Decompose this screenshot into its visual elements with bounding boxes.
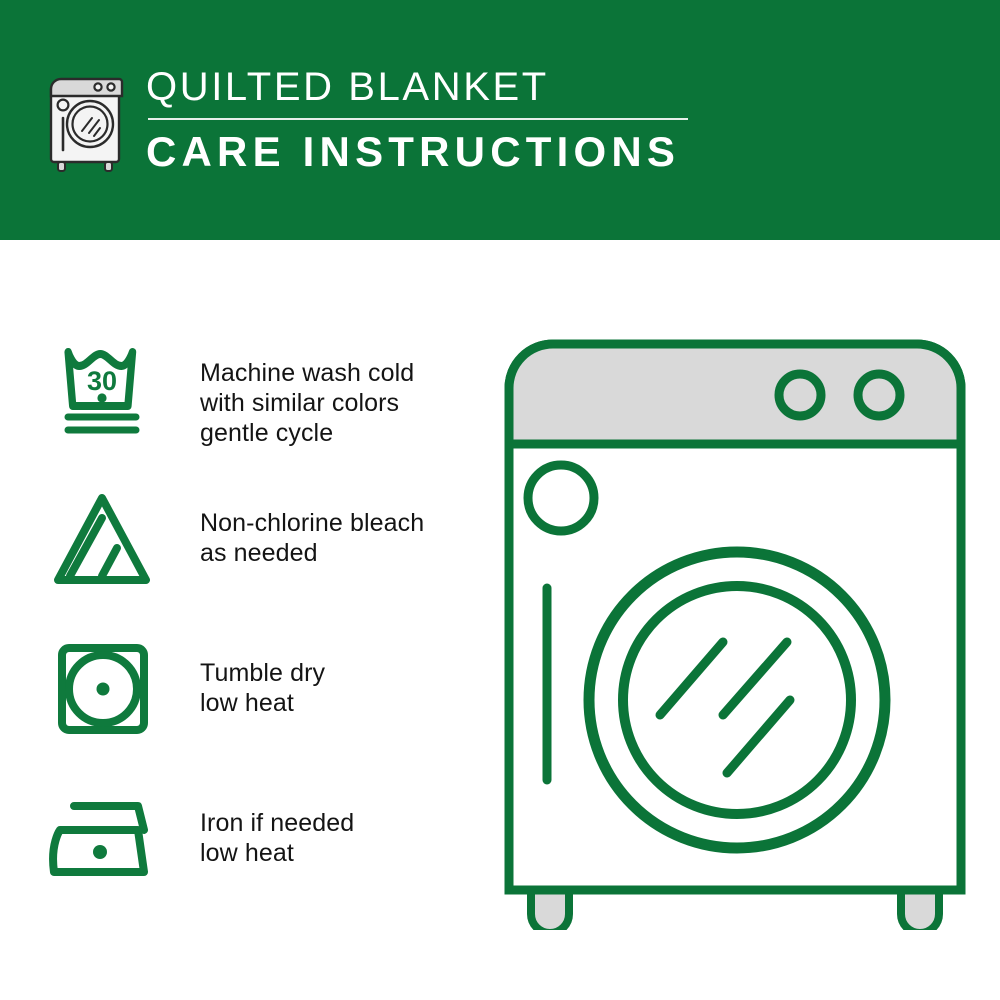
care-line: Tumble dry bbox=[200, 658, 325, 688]
care-line: Iron if needed bbox=[200, 808, 354, 838]
care-line: with similar colors bbox=[200, 388, 414, 418]
page-title-secondary: CARE INSTRUCTIONS bbox=[146, 129, 688, 175]
machine-knob-1[interactable] bbox=[779, 374, 821, 416]
wash-tub-30-gentle-icon: 30 bbox=[46, 336, 162, 444]
care-text-iron: Iron if needed low heat bbox=[200, 786, 354, 868]
care-line: gentle cycle bbox=[200, 418, 414, 448]
washing-machine-icon bbox=[42, 62, 134, 174]
title-divider bbox=[148, 118, 688, 120]
care-row-bleach: Non-chlorine bleach as needed bbox=[46, 486, 486, 636]
front-load-washing-machine-illustration bbox=[495, 330, 975, 930]
wash-temperature-label: 30 bbox=[87, 366, 117, 396]
care-line: Non-chlorine bleach bbox=[200, 508, 424, 538]
header-banner: QUILTED BLANKET CARE INSTRUCTIONS bbox=[0, 0, 1000, 240]
care-row-tumble-dry: Tumble dry low heat bbox=[46, 636, 486, 786]
care-line: as needed bbox=[200, 538, 424, 568]
machine-knob-2[interactable] bbox=[858, 374, 900, 416]
care-text-bleach: Non-chlorine bleach as needed bbox=[200, 486, 424, 568]
wash-dot bbox=[97, 393, 106, 402]
care-line: low heat bbox=[200, 688, 325, 718]
non-chlorine-bleach-triangle-icon bbox=[46, 486, 162, 594]
care-line: Machine wash cold bbox=[200, 358, 414, 388]
care-instructions-list: 30 Machine wash cold with similar colors… bbox=[46, 336, 486, 936]
iron-heat-dot bbox=[93, 845, 107, 859]
dryer-heat-dot bbox=[97, 683, 110, 696]
page-title-primary: QUILTED BLANKET bbox=[146, 64, 688, 110]
care-text-machine-wash: Machine wash cold with similar colors ge… bbox=[200, 336, 414, 448]
tumble-dry-low-heat-icon bbox=[46, 636, 162, 744]
iron-low-heat-icon bbox=[46, 786, 162, 894]
care-line: low heat bbox=[200, 838, 354, 868]
care-row-machine-wash: 30 Machine wash cold with similar colors… bbox=[46, 336, 486, 486]
header-content: QUILTED BLANKET CARE INSTRUCTIONS bbox=[42, 62, 688, 175]
care-row-iron: Iron if needed low heat bbox=[46, 786, 486, 936]
care-text-tumble-dry: Tumble dry low heat bbox=[200, 636, 325, 718]
header-title-group: QUILTED BLANKET CARE INSTRUCTIONS bbox=[146, 62, 688, 175]
